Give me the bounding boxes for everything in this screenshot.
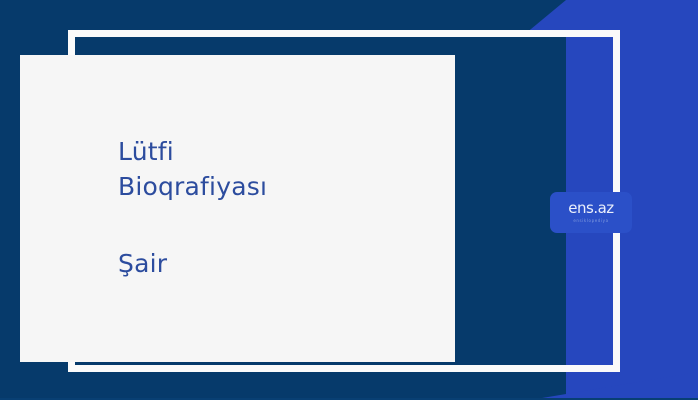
content-panel xyxy=(20,55,455,362)
page-subtitle: Şair xyxy=(118,248,167,280)
slide-canvas: Lütfi Bioqrafiyası Şair ens.az ensiklope… xyxy=(0,0,698,400)
ens-az-logo-wordmark: ens.az xyxy=(568,201,613,216)
title-line-2: Bioqrafiyası xyxy=(118,169,438,204)
ens-az-logo-badge[interactable]: ens.az ensiklopediya xyxy=(550,192,632,233)
title-line-1: Lütfi xyxy=(118,134,438,169)
ens-az-logo-tagline: ensiklopediya xyxy=(573,218,608,224)
page-title: Lütfi Bioqrafiyası xyxy=(118,134,438,204)
